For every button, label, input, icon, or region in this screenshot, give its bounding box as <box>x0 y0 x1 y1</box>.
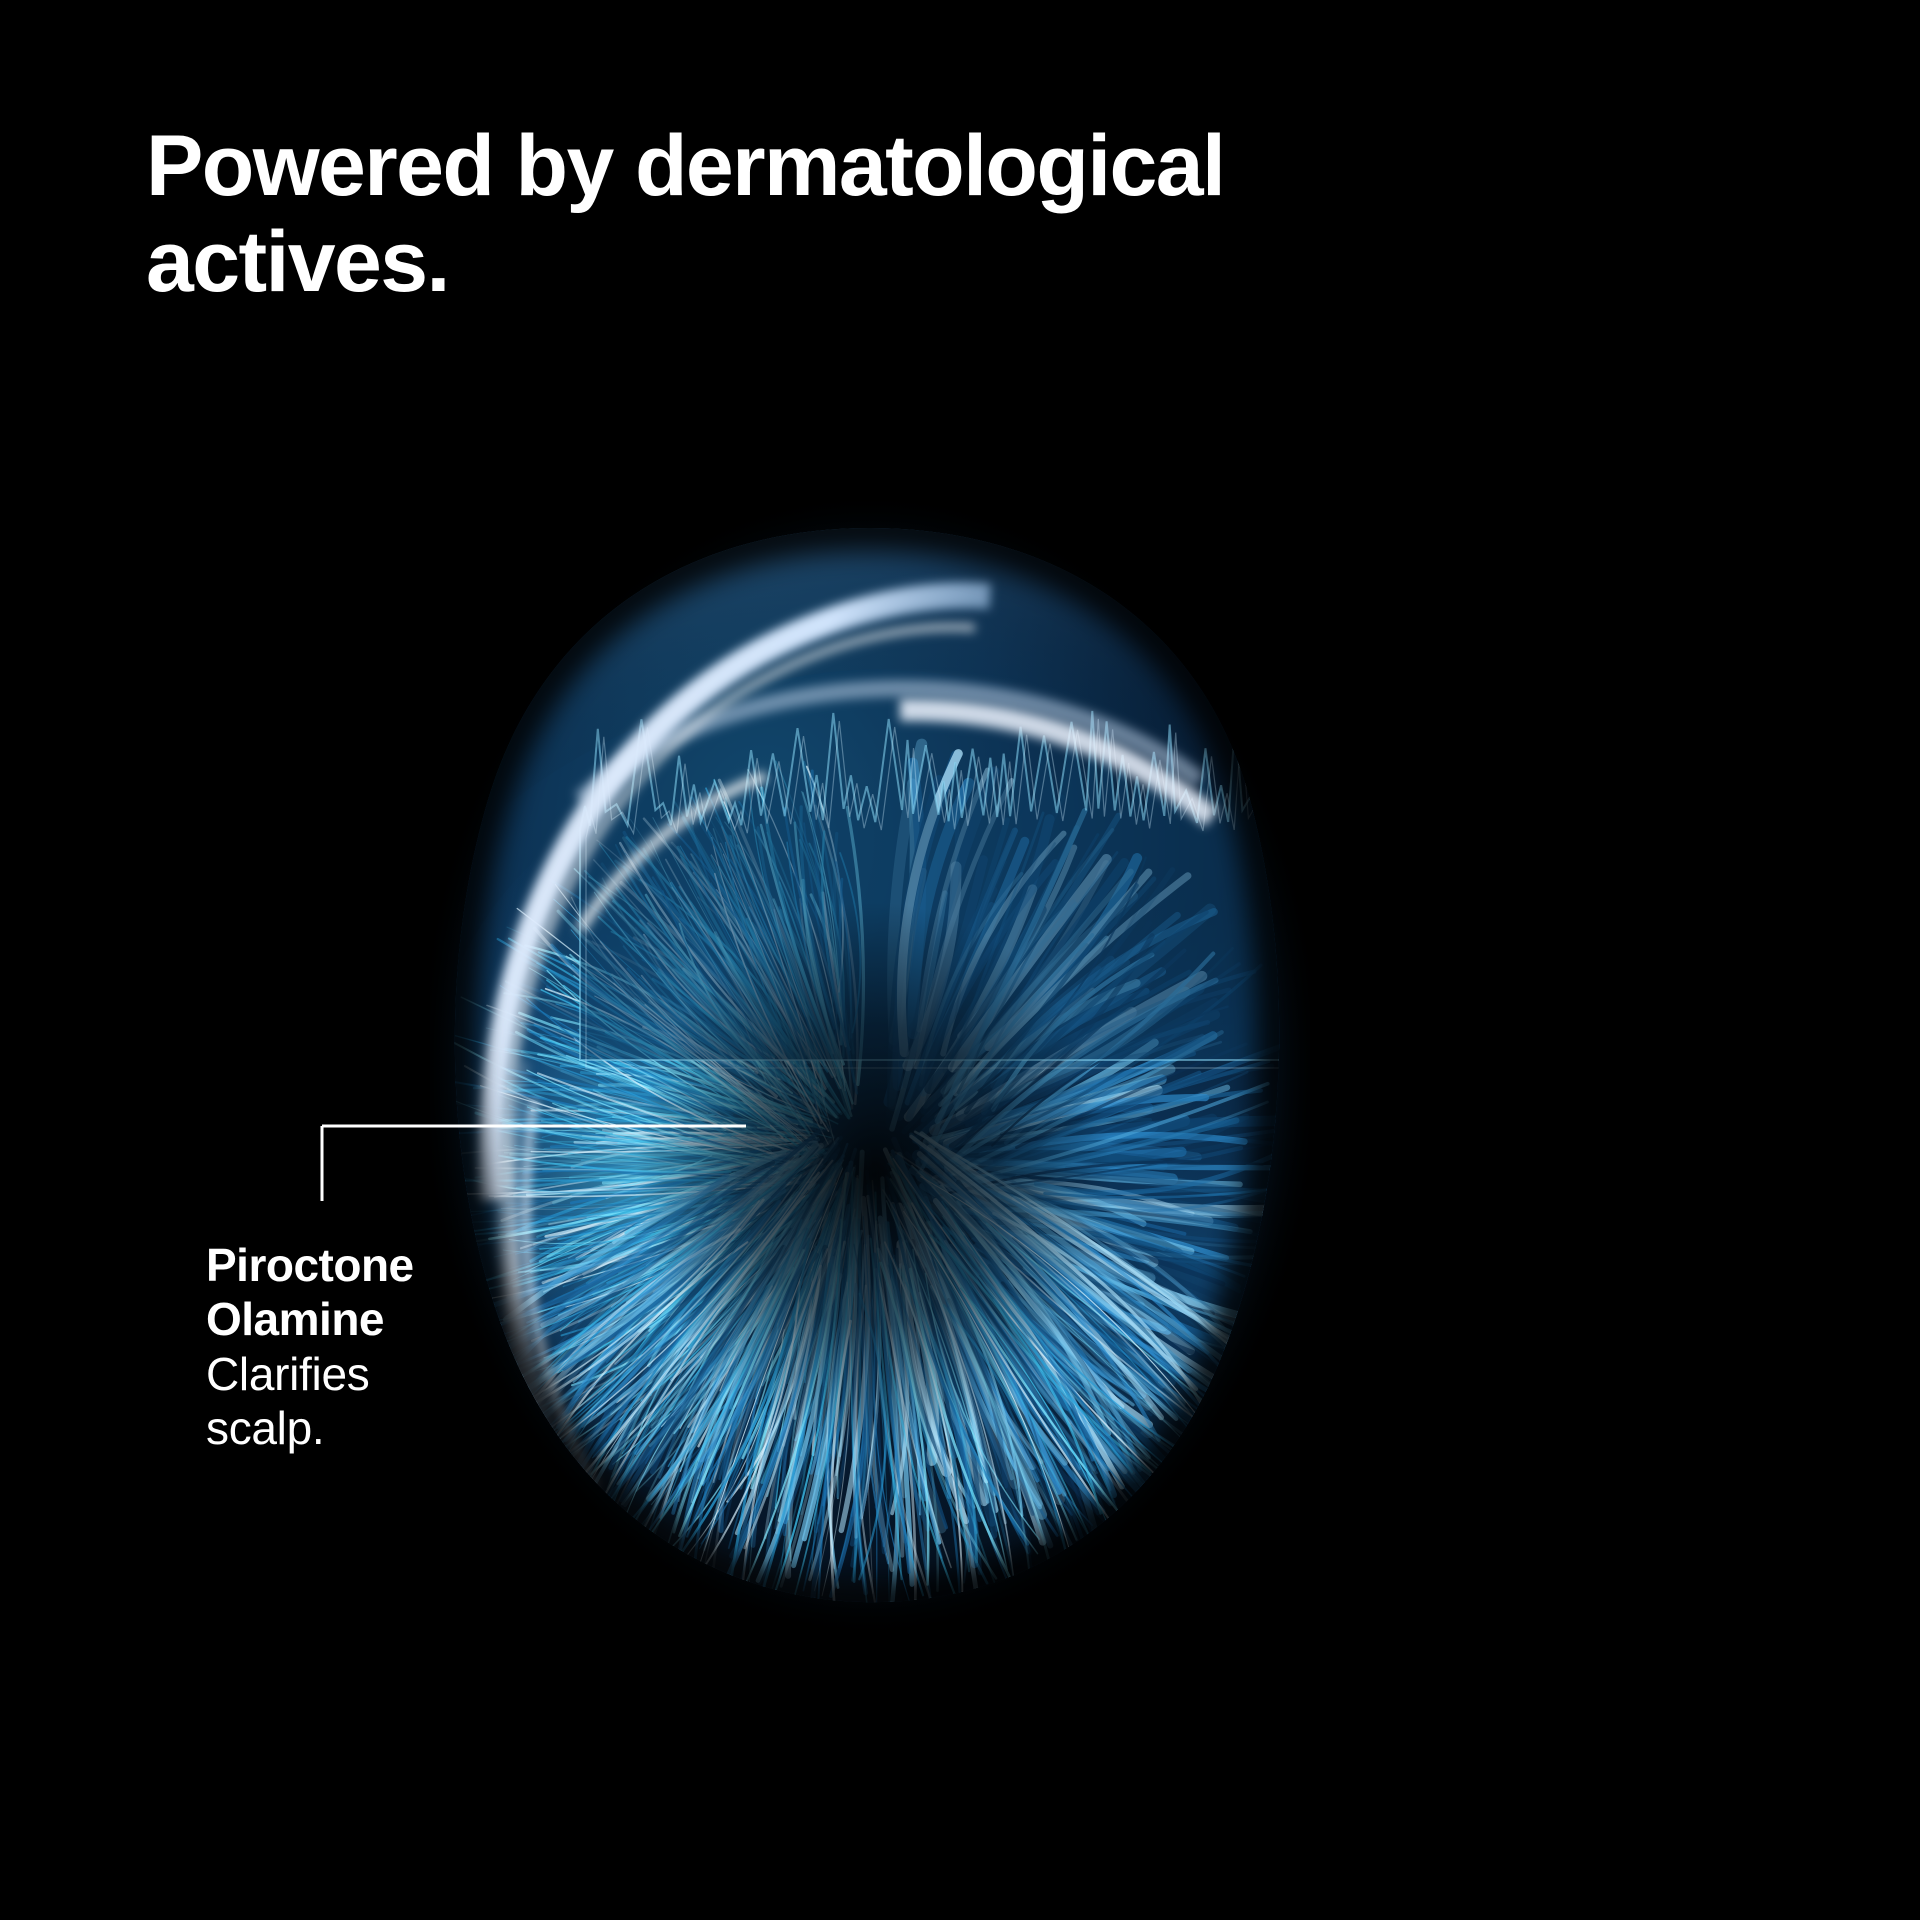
promo-canvas: Powered by dermatological actives. <box>0 0 1920 1920</box>
page-title: Powered by dermatological actives. <box>146 118 1446 311</box>
ingredient-orb <box>430 500 1310 1630</box>
orb-graphic <box>430 500 1310 1630</box>
ingredient-benefit: Clarifies scalp. <box>206 1347 536 1456</box>
ingredient-name: Piroctone Olamine <box>206 1238 536 1347</box>
ingredient-callout: Piroctone Olamine Clarifies scalp. <box>206 1238 536 1455</box>
